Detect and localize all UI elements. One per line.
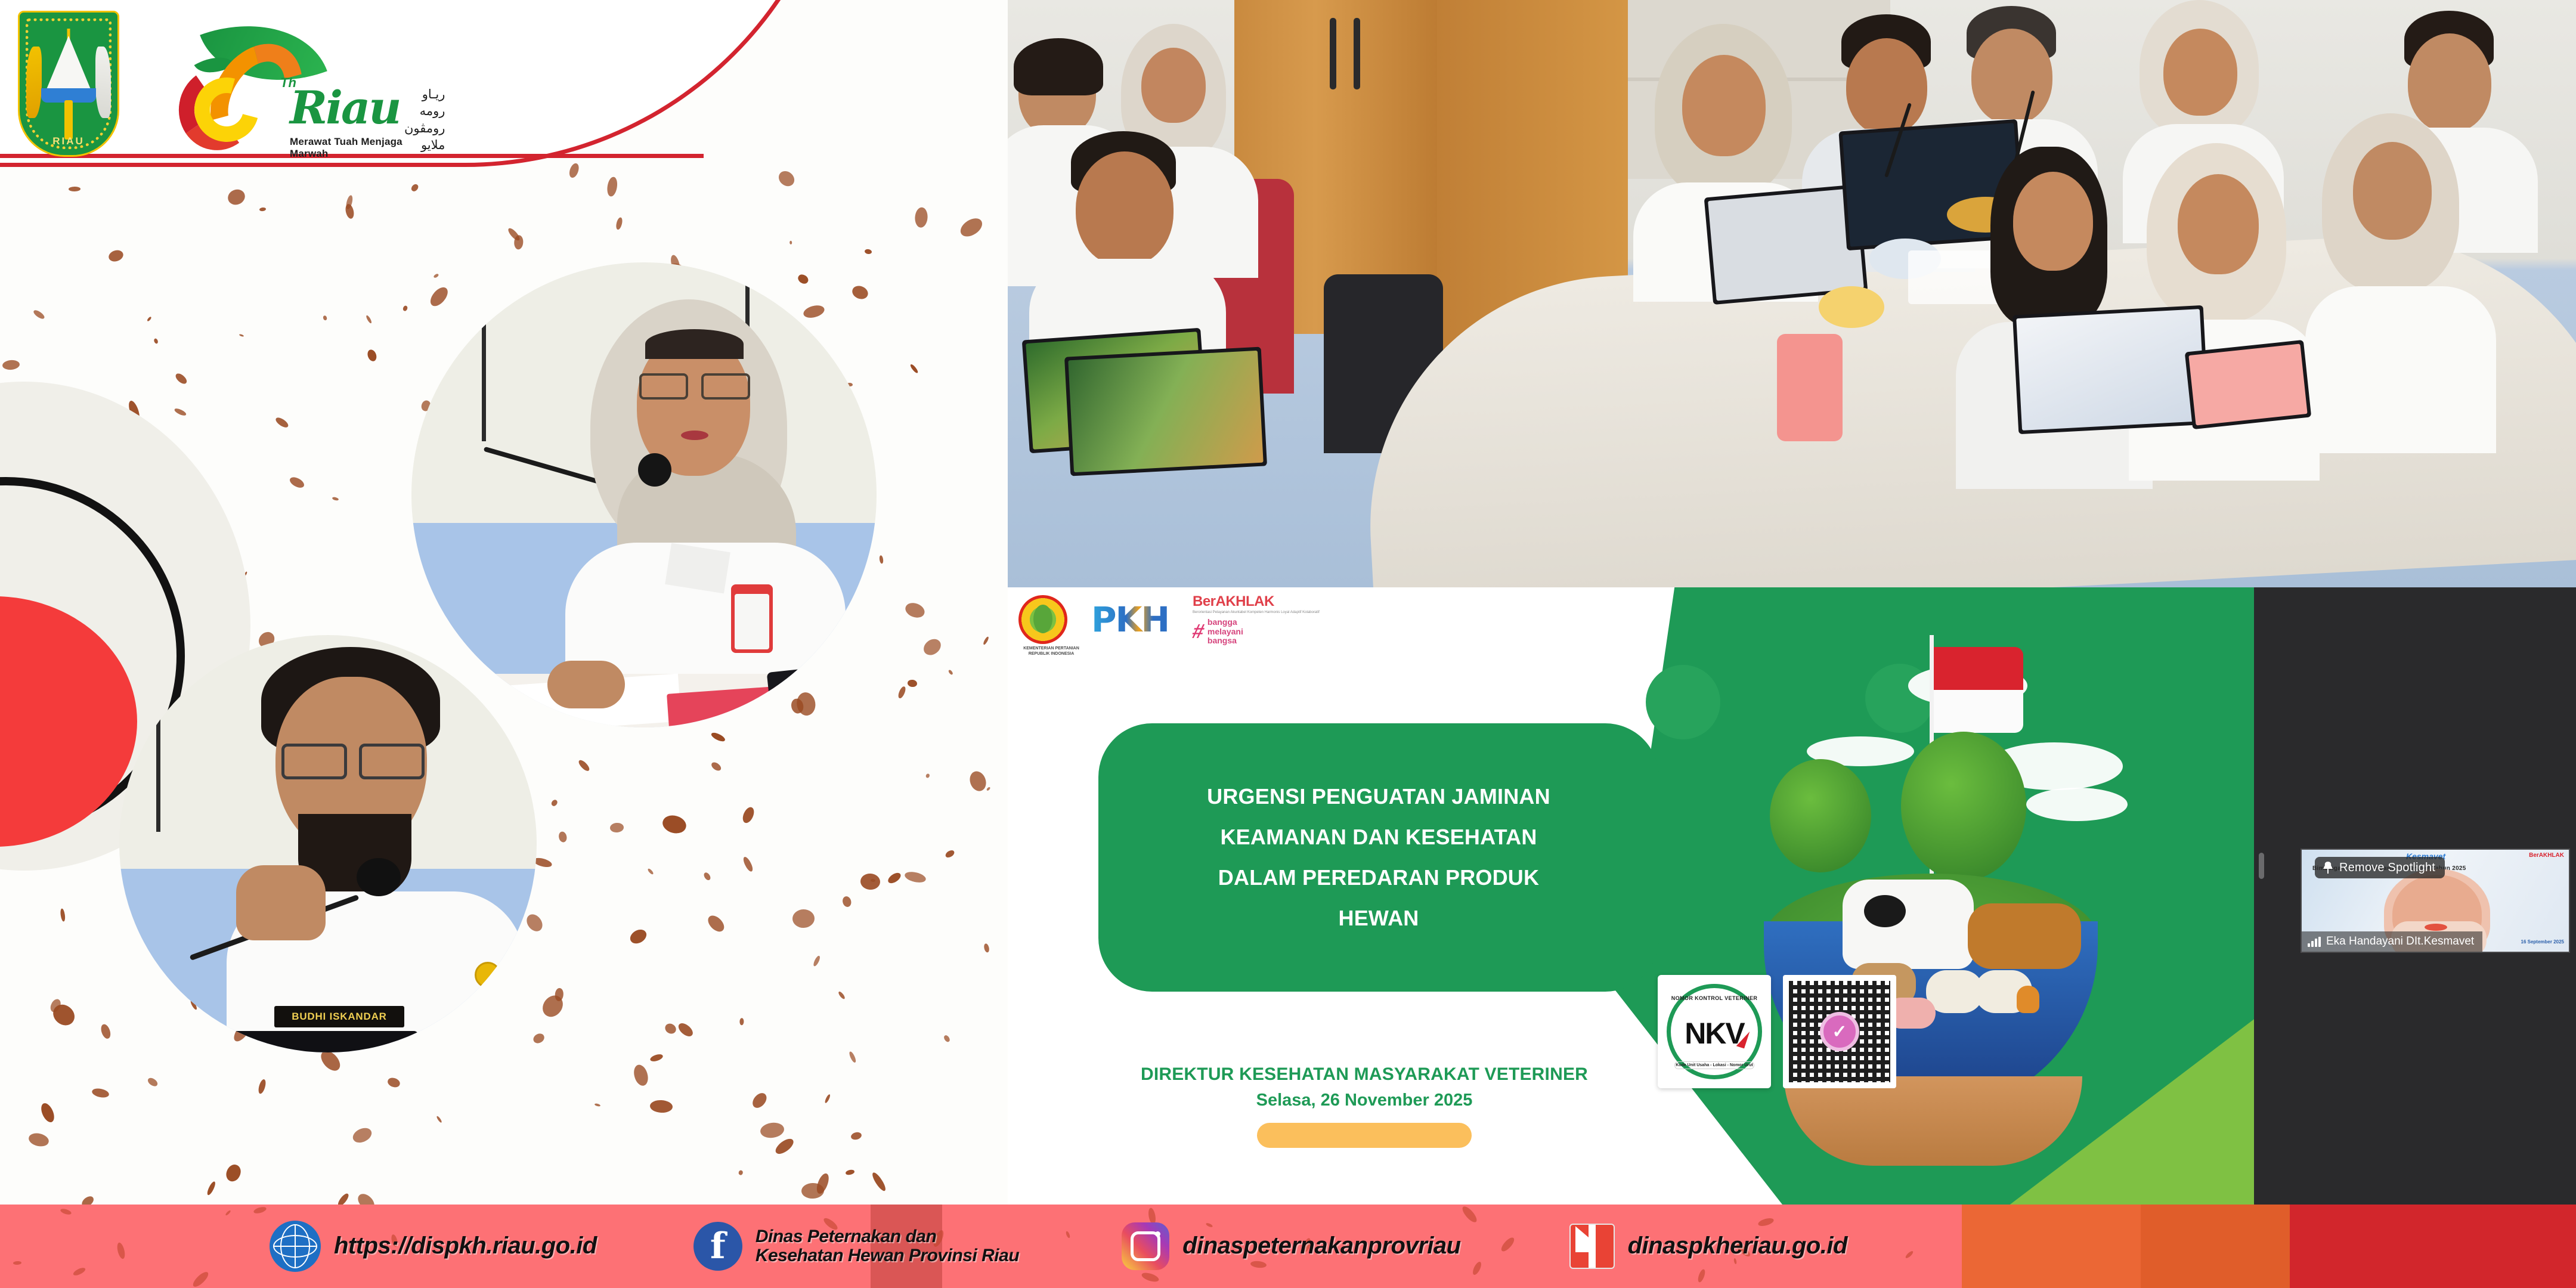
speckle xyxy=(274,416,290,429)
footer-speckle xyxy=(1141,1271,1160,1284)
speckle xyxy=(402,305,408,311)
speckle xyxy=(792,909,815,928)
speckle xyxy=(676,1021,695,1039)
speckle xyxy=(39,1101,57,1124)
speckle xyxy=(69,187,80,191)
speckle xyxy=(907,679,918,688)
logo-wordmark: Riau xyxy=(290,81,400,134)
speckle xyxy=(615,216,624,230)
berakhlak-subtitle: Berorientasi Pelayanan Akuntabel Kompete… xyxy=(1193,611,1320,614)
slide-date: Selasa, 26 November 2025 xyxy=(1066,1091,1662,1110)
speckle xyxy=(649,1053,664,1063)
speckle xyxy=(661,813,688,835)
speckle xyxy=(879,555,884,563)
speckle xyxy=(174,407,187,417)
speckle xyxy=(812,955,821,967)
speckle xyxy=(983,636,989,645)
speckle xyxy=(897,686,906,699)
email-label: dinaspkheriau.go.id xyxy=(1628,1233,1847,1259)
speckle xyxy=(259,207,267,211)
bangga-line-3: bangsa xyxy=(1207,636,1243,646)
footer-speckle xyxy=(1460,1205,1479,1224)
footer-speckle xyxy=(1065,1231,1070,1239)
footer-speckle xyxy=(225,1210,231,1216)
footer-speckle xyxy=(253,1206,267,1215)
speckle xyxy=(837,990,846,999)
spotlight-pin-icon xyxy=(2322,861,2334,874)
speckle xyxy=(224,1163,243,1184)
speckle xyxy=(595,1103,600,1107)
footer-speckle xyxy=(1499,1236,1516,1253)
speckle xyxy=(957,215,985,240)
speckle xyxy=(257,1079,267,1095)
speckle xyxy=(225,187,247,207)
instagram-label: dinaspeternakanprovriau xyxy=(1182,1233,1460,1259)
speckle xyxy=(577,758,591,773)
speckle xyxy=(986,787,990,791)
remove-spotlight-button[interactable]: Remove Spotlight xyxy=(2315,857,2445,878)
participant-name-badge: Eka Handayani DIt.Kesmavet xyxy=(2302,931,2482,952)
speckle xyxy=(948,669,953,675)
name-tag-label: BUDHI ISKANDAR xyxy=(292,1011,386,1023)
footer-speckle xyxy=(13,1261,21,1265)
speckle xyxy=(849,1051,857,1063)
speckle xyxy=(841,896,853,908)
speckle xyxy=(332,497,339,501)
slide-title-box: URGENSI PENGUATAN JAMINAN KEAMANAN DAN K… xyxy=(1098,723,1659,992)
speckle xyxy=(647,868,654,875)
speckle xyxy=(366,348,378,362)
speckle xyxy=(815,1172,831,1196)
slide-title-line-1: URGENSI PENGUATAN JAMINAN xyxy=(1207,784,1550,809)
facebook-label-line-1: Dinas Peternakan dan xyxy=(756,1227,1019,1246)
speckle xyxy=(702,871,711,881)
left-decorative-panel: BUDHI ISKANDAR RIAU xyxy=(0,0,1008,1205)
speckle xyxy=(153,338,159,345)
speckle xyxy=(27,1131,50,1148)
speckle xyxy=(288,475,305,490)
berakhlak-title: BerAKHLAK xyxy=(1193,593,1320,610)
speckle xyxy=(239,334,244,338)
remove-spotlight-label: Remove Spotlight xyxy=(2339,861,2435,875)
speckle xyxy=(366,315,373,324)
signal-strength-icon xyxy=(2308,937,2321,947)
speckle xyxy=(550,798,559,807)
speckle xyxy=(410,183,420,193)
speckle xyxy=(864,249,872,255)
speckle xyxy=(860,873,881,890)
gmail-icon xyxy=(1569,1224,1615,1269)
speckle xyxy=(738,1169,744,1175)
speckle xyxy=(386,1076,401,1089)
video-banner-date: 16 September 2025 xyxy=(2521,939,2565,945)
name-tag: BUDHI ISKANDAR xyxy=(274,1006,404,1027)
speckle xyxy=(206,1181,216,1196)
speckle xyxy=(741,806,756,825)
website-label: https://dispkh.riau.go.id xyxy=(334,1233,597,1259)
participant-name-label: Eka Handayani DIt.Kesmavet xyxy=(2326,935,2474,948)
footer-speckle xyxy=(191,1270,210,1288)
slide-accent-pill xyxy=(1257,1123,1472,1148)
qr-code-icon: ✓ xyxy=(1789,981,1890,1082)
speckle xyxy=(351,1125,374,1145)
speckle xyxy=(886,871,902,885)
logo-tagline: Merawat Tuah Menjaga Marwah xyxy=(290,136,440,160)
jawi-line-1: ريـاو رومه xyxy=(404,86,445,120)
footer-speckle xyxy=(116,1242,126,1260)
speckle xyxy=(759,1121,785,1139)
globe-icon xyxy=(270,1221,321,1272)
speckle xyxy=(824,1094,831,1104)
video-banner-berakhlak: BerAKHLAK xyxy=(2529,852,2564,859)
qr-seal-icon: ✓ xyxy=(1820,1012,1859,1051)
speckle xyxy=(705,913,727,935)
speckle xyxy=(945,849,956,859)
speckle xyxy=(100,1023,112,1040)
speckle xyxy=(870,1171,887,1193)
nkv-logo-card: NOMOR KONTROL VETERINER NKV Kode Unit Us… xyxy=(1658,975,1771,1088)
speckle xyxy=(628,927,649,946)
speckle xyxy=(943,1035,951,1044)
poster-header: RIAU Th Riau ريـاو رومه رومڤون ملايو Mer… xyxy=(0,0,1008,167)
pkh-logo: PKH xyxy=(1091,599,1169,640)
speckle xyxy=(2,360,20,370)
bangga-line-2: melayani xyxy=(1207,627,1243,637)
facebook-label-line-2: Kesehatan Hewan Provinsi Riau xyxy=(756,1246,1019,1265)
speckle xyxy=(925,773,930,778)
speckle xyxy=(750,1091,770,1111)
speckle xyxy=(742,856,754,872)
nkv-footer-text: Kode Unit Usaha - Lokasi - Nomor Urut xyxy=(1674,1061,1754,1069)
speckle xyxy=(606,176,618,197)
photo-man-speaking: BUDHI ISKANDAR xyxy=(119,635,537,1052)
instagram-icon xyxy=(1122,1222,1169,1270)
kementan-logo: KEMENTERIAN PERTANIAN REPUBLIK INDONESIA xyxy=(1018,595,1067,644)
riau-coat-of-arms-icon: RIAU xyxy=(18,11,119,157)
speckle xyxy=(921,636,945,658)
speckle xyxy=(663,1021,678,1036)
slide-logo-row: KEMENTERIAN PERTANIAN REPUBLIK INDONESIA… xyxy=(1018,593,1320,646)
speckle xyxy=(909,363,919,374)
berakhlak-logo: BerAKHLAK Berorientasi Pelayanan Akuntab… xyxy=(1193,593,1320,646)
speckle xyxy=(91,1087,110,1099)
speckle xyxy=(147,316,152,321)
slide-title-line-4: HEWAN xyxy=(1339,906,1419,931)
footer-speckle xyxy=(72,1267,86,1277)
speckle xyxy=(436,1116,442,1123)
footer-speckle xyxy=(60,1207,72,1215)
speckle xyxy=(914,207,928,228)
presentation-slide: KEMENTERIAN PERTANIAN REPUBLIK INDONESIA… xyxy=(1008,587,2254,1205)
bangga-line-1: bangga xyxy=(1207,618,1243,627)
footer-item-facebook[interactable]: f Dinas Peternakan dan Kesehatan Hewan P… xyxy=(693,1222,1019,1271)
speckle xyxy=(789,241,792,245)
footer-speckle xyxy=(1696,1268,1706,1283)
slide-title-line-3: DALAM PEREDARAN PRODUK xyxy=(1218,865,1539,890)
video-participant-tile[interactable]: Kesmavet BerAKHLAK Bimbingan Teknis Peng… xyxy=(2301,849,2570,953)
speckle xyxy=(710,761,722,773)
footer-item-email[interactable]: dinaspkheriau.go.id xyxy=(1569,1224,1847,1269)
kementan-caption: KEMENTERIAN PERTANIAN REPUBLIK INDONESIA xyxy=(1018,646,1084,657)
emblem-label: RIAU xyxy=(18,135,119,147)
slide-title-line-2: KEAMANAN DAN KESEHATAN xyxy=(1220,825,1537,850)
speckle xyxy=(739,1018,744,1026)
speckle xyxy=(904,870,927,884)
speckle xyxy=(776,168,797,190)
slide-dot-a xyxy=(1646,665,1720,739)
speckle xyxy=(80,1194,95,1205)
nkv-acronym: NKV xyxy=(1685,1016,1744,1051)
speckle xyxy=(710,731,726,742)
speckle xyxy=(174,371,188,385)
speckle xyxy=(336,1192,350,1205)
speckle xyxy=(609,822,624,832)
riau-anniversary-logo: Th Riau ريـاو رومه رومڤون ملايو Merawat … xyxy=(106,11,440,154)
speckle xyxy=(903,600,927,620)
speckle xyxy=(631,1063,650,1087)
speckle xyxy=(558,831,568,843)
speckle xyxy=(60,908,66,922)
speckle xyxy=(146,1076,159,1088)
qr-code-card: ✓ xyxy=(1783,975,1896,1088)
video-scrollbar[interactable] xyxy=(2259,853,2264,879)
footer-speckle xyxy=(1471,1261,1483,1276)
footer-item-website[interactable]: https://dispkh.riau.go.id xyxy=(270,1221,597,1272)
speckle xyxy=(845,1169,855,1175)
speckle xyxy=(773,1136,796,1156)
video-conference-panel: Kesmavet BerAKHLAK Bimbingan Teknis Peng… xyxy=(2254,587,2576,1205)
bangga-hash-icon: # xyxy=(1190,620,1207,643)
speckle xyxy=(967,769,989,794)
photo-meeting-room xyxy=(1008,0,2576,587)
speckle xyxy=(649,1100,673,1113)
slide-subtitle: DIREKTUR KESEHATAN MASYARAKAT VETERINER xyxy=(1066,1064,1662,1085)
speckle xyxy=(850,1131,863,1141)
nkv-ring-text: NOMOR KONTROL VETERINER xyxy=(1671,995,1758,1001)
footer-speckle xyxy=(1905,1250,1914,1259)
facebook-icon: f xyxy=(693,1222,742,1271)
speckle xyxy=(32,309,45,320)
speckle xyxy=(983,943,990,953)
speckle xyxy=(355,1191,377,1205)
footer-item-instagram[interactable]: dinaspeternakanprovriau xyxy=(1122,1222,1460,1270)
speckle xyxy=(107,249,125,264)
contact-footer: https://dispkh.riau.go.id f Dinas Petern… xyxy=(0,1205,2576,1288)
speckle xyxy=(323,315,327,320)
poster-canvas: BUDHI ISKANDAR RIAU xyxy=(0,0,2576,1288)
